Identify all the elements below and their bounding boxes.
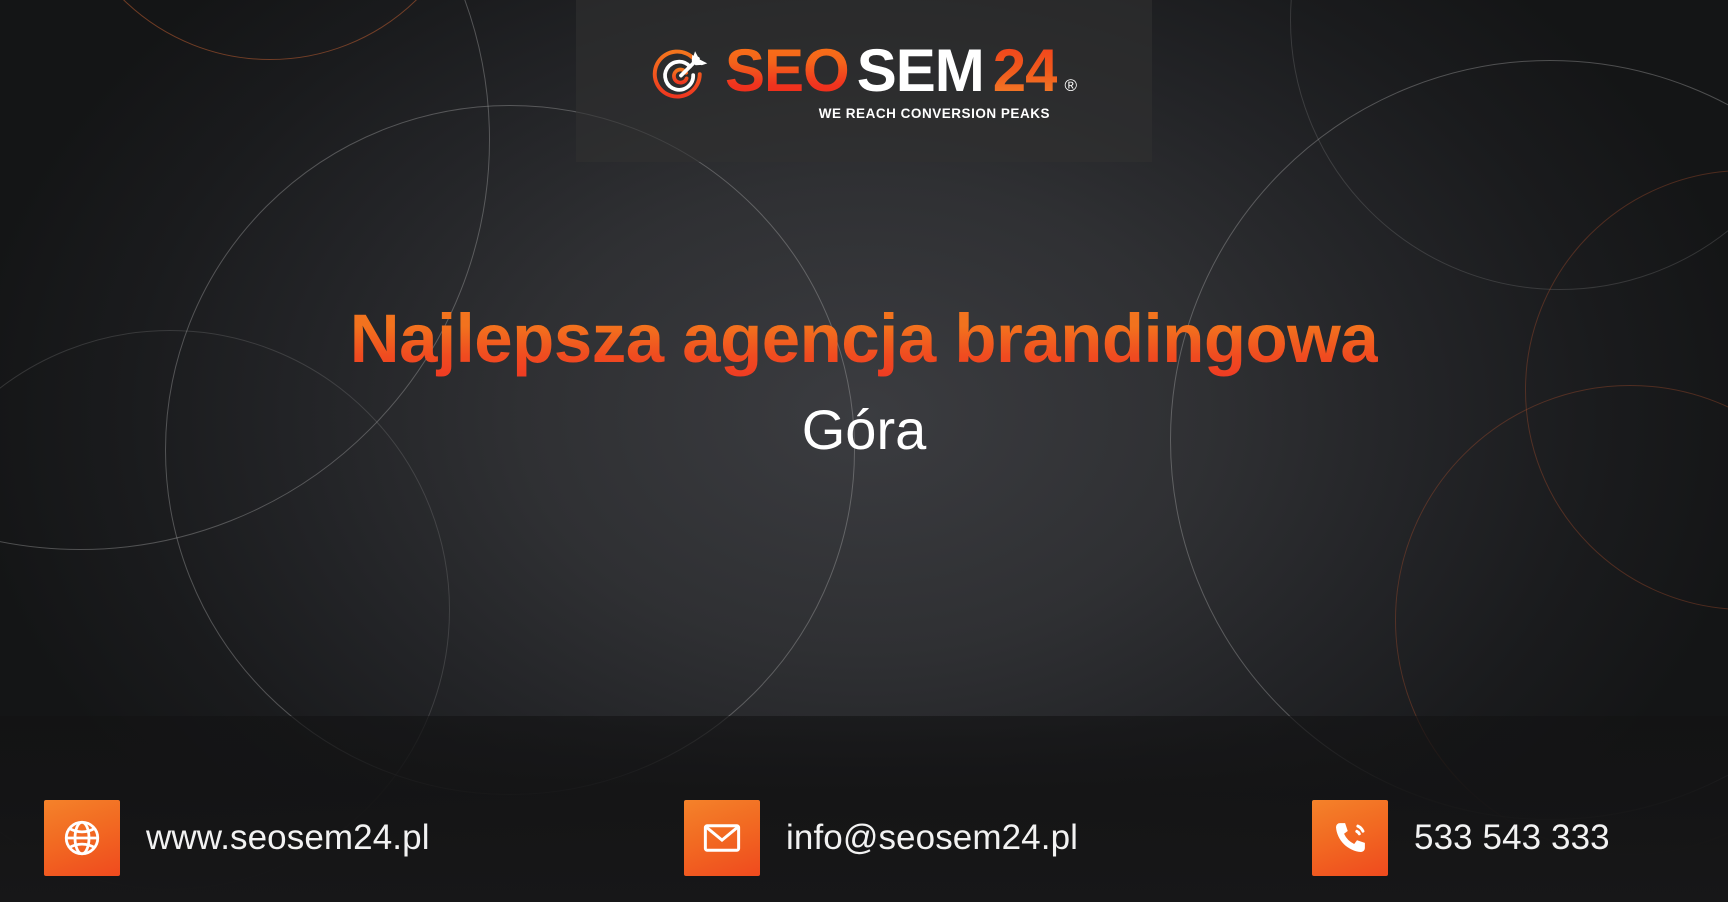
globe-icon: [44, 800, 120, 876]
contact-item-email[interactable]: info@seosem24.pl: [684, 800, 1078, 876]
decorative-circle: [0, 0, 490, 550]
banner-canvas: SEO SEM 24 ® WE REACH CONVERSION PEAKS N…: [0, 0, 1728, 902]
brand-tagline: WE REACH CONVERSION PEAKS: [819, 106, 1077, 121]
target-arrow-icon: [651, 47, 711, 109]
contact-label-phone: 533 543 333: [1414, 818, 1610, 858]
brand-logo[interactable]: SEO SEM 24 ® WE REACH CONVERSION PEAKS: [651, 41, 1077, 121]
brand-name-24: 24: [993, 41, 1058, 101]
hero-section: Najlepsza agencja brandingowa Góra: [0, 300, 1728, 461]
page-title: Najlepsza agencja brandingowa: [350, 300, 1378, 377]
registered-mark-icon: ®: [1064, 77, 1077, 94]
contact-item-phone[interactable]: 533 543 333: [1312, 800, 1610, 876]
contact-item-website[interactable]: www.seosem24.pl: [44, 800, 430, 876]
decorative-circle: [1290, 0, 1728, 290]
logo-header-panel: SEO SEM 24 ® WE REACH CONVERSION PEAKS: [576, 0, 1152, 162]
decorative-circle: [60, 0, 480, 60]
brand-wordmark: SEO SEM 24 ® WE REACH CONVERSION PEAKS: [725, 41, 1077, 121]
phone-icon: [1312, 800, 1388, 876]
envelope-icon: [684, 800, 760, 876]
contact-label-website: www.seosem24.pl: [146, 818, 430, 858]
contact-footer-bar: www.seosem24.pl info@seosem24.pl 533 543…: [0, 716, 1728, 902]
brand-name-seo: SEO: [725, 41, 849, 101]
page-subtitle: Góra: [0, 399, 1728, 461]
contact-label-email: info@seosem24.pl: [786, 818, 1078, 858]
brand-name-sem: SEM: [857, 41, 984, 101]
